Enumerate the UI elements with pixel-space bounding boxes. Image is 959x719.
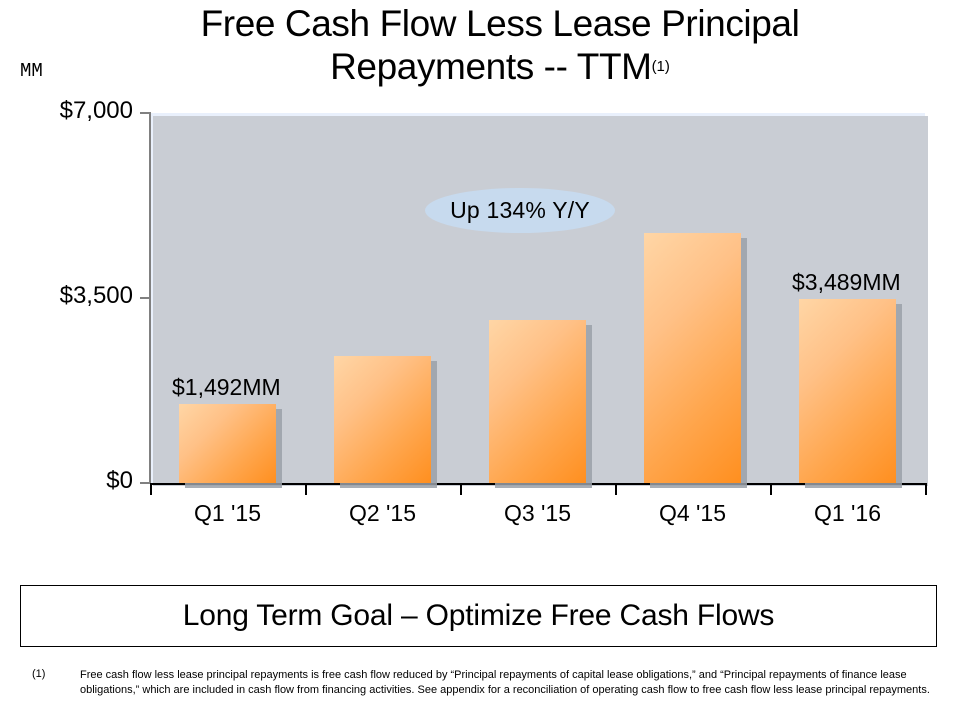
page-title: Free Cash Flow Less Lease Principal Repa…	[120, 2, 880, 88]
y-axis-tick-label: $7,000	[60, 97, 133, 125]
bar-q115	[179, 404, 276, 483]
x-axis-tick	[925, 485, 927, 495]
x-axis-category-label: Q1 '15	[168, 500, 288, 527]
callout-up-yoy: Up 134% Y/Y	[425, 188, 615, 233]
title-line-1: Free Cash Flow Less Lease Principal	[201, 3, 800, 44]
x-axis-tick	[770, 485, 772, 495]
x-axis-category-label: Q1 '16	[788, 500, 908, 527]
y-axis-tick-label: $3,500	[60, 282, 133, 310]
callout-text: Up 134% Y/Y	[450, 197, 590, 224]
title-footnote-marker: (1)	[652, 58, 670, 75]
y-axis-tick	[140, 297, 150, 299]
x-axis-tick	[305, 485, 307, 495]
footnote-text: Free cash flow less lease principal repa…	[80, 668, 950, 698]
title-line-2: Repayments -- TTM	[330, 46, 651, 87]
bar-q215	[334, 356, 431, 483]
y-axis-tick	[140, 482, 150, 484]
long-term-goal-banner: Long Term Goal – Optimize Free Cash Flow…	[20, 585, 937, 647]
bar-q315	[489, 320, 586, 483]
bar-value-label: $3,489MM	[792, 269, 901, 296]
slide: Free Cash Flow Less Lease Principal Repa…	[0, 0, 959, 719]
bar-q415	[644, 233, 741, 483]
x-axis-tick	[615, 485, 617, 495]
x-axis-tick	[460, 485, 462, 495]
x-axis-category-label: Q2 '15	[323, 500, 443, 527]
y-axis-tick-label: $0	[106, 467, 133, 495]
bar-value-label: $1,492MM	[172, 374, 281, 401]
bar-q116	[799, 299, 896, 483]
x-axis-tick	[150, 485, 152, 495]
x-axis-category-label: Q3 '15	[478, 500, 598, 527]
y-axis-tick	[140, 112, 150, 114]
x-axis-category-label: Q4 '15	[633, 500, 753, 527]
banner-text: Long Term Goal – Optimize Free Cash Flow…	[183, 599, 774, 633]
footnote-marker: (1)	[32, 668, 45, 680]
